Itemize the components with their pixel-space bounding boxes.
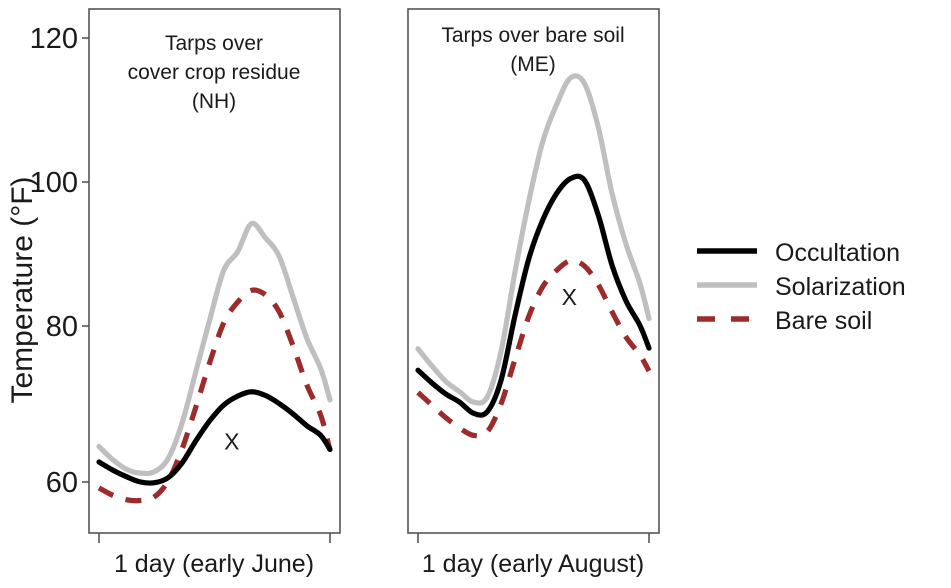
series-layer: XX [99, 76, 649, 501]
y-axis-title: Temperature (°F) [6, 176, 39, 403]
x-marker-panel-1: X [224, 428, 239, 454]
x-axis-label-right: 1 day (early August) [422, 550, 644, 578]
panel-title-left-line1: Tarps over [165, 32, 263, 55]
panel-title-right-line2: (ME) [510, 53, 556, 76]
chart-legend: Occultation Solarization Bare soil [697, 239, 906, 335]
panel-title-left-line3: (NH) [192, 90, 236, 113]
panel-title-left-line2: cover crop residue [128, 61, 301, 84]
chart-figure: Temperature (°F) 120 100 80 60 Tarps ove… [0, 0, 951, 588]
chart-canvas: Temperature (°F) 120 100 80 60 Tarps ove… [0, 0, 951, 588]
panel-title-left: Tarps over cover crop residue (NH) [128, 32, 301, 113]
panel-title-right-line1: Tarps over bare soil [441, 24, 624, 47]
y-tick-label-100: 100 [30, 167, 78, 199]
panel-frame-left [89, 9, 340, 533]
x-marker-panel-2: X [562, 284, 577, 310]
legend-label-solarization: Solarization [775, 273, 906, 301]
series-line-bare-soil-panel-2 [418, 261, 649, 436]
legend-label-baresoil: Bare soil [775, 307, 872, 335]
panel-title-right: Tarps over bare soil (ME) [441, 24, 624, 76]
legend-label-occultation: Occultation [775, 239, 900, 267]
series-line-bare-soil-panel-1 [99, 290, 330, 501]
y-tick-label-60: 60 [46, 467, 78, 499]
y-tick-label-120: 120 [30, 23, 78, 55]
panel-frame-right [408, 9, 659, 533]
x-axis-label-left: 1 day (early June) [114, 550, 314, 578]
series-line-solarization-panel-1 [99, 223, 330, 473]
y-tick-label-80: 80 [46, 311, 78, 343]
